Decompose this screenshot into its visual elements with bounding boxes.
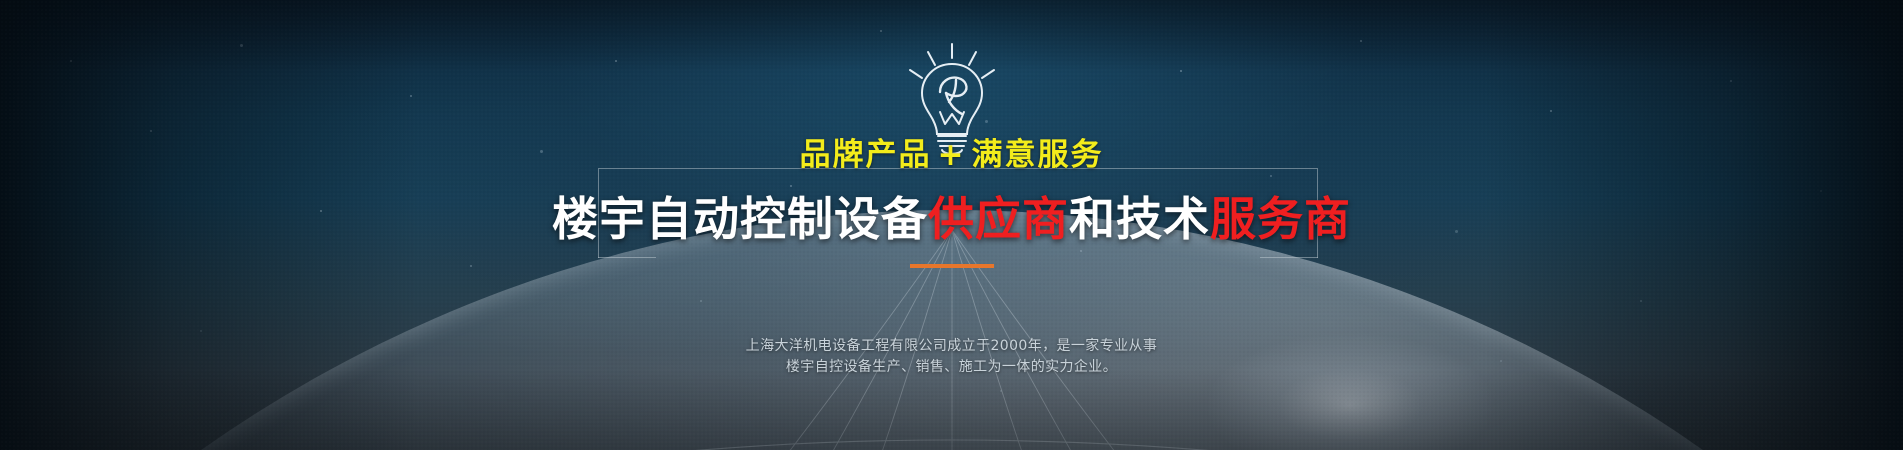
headline-part-1: 楼宇自动控制设备 xyxy=(552,192,928,246)
headline-highlight-service-provider: 服务商 xyxy=(1210,192,1351,246)
headline-highlight-supplier: 供应商 xyxy=(928,192,1069,246)
page-title: 楼宇自动控制设备供应商和技术服务商 xyxy=(0,192,1903,246)
company-description: 上海大洋机电设备工程有限公司成立于2000年，是一家专业从事 楼宇自控设备生产、… xyxy=(0,336,1903,378)
tagline: 品牌产品+满意服务 xyxy=(0,140,1903,171)
tagline-right: 满意服务 xyxy=(971,137,1103,173)
decorative-frame-right-foot xyxy=(1260,257,1318,258)
decorative-frame-left-foot xyxy=(598,257,656,258)
orange-divider xyxy=(910,264,994,268)
description-line-2: 楼宇自控设备生产、销售、施工为一体的实力企业。 xyxy=(0,357,1903,378)
tagline-plus: + xyxy=(932,137,972,173)
tagline-left: 品牌产品 xyxy=(800,137,932,173)
description-line-1: 上海大洋机电设备工程有限公司成立于2000年，是一家专业从事 xyxy=(0,336,1903,357)
hero-banner: 品牌产品+满意服务 楼宇自动控制设备供应商和技术服务商 上海大洋机电设备工程有限… xyxy=(0,0,1903,450)
banner-content: 品牌产品+满意服务 楼宇自动控制设备供应商和技术服务商 上海大洋机电设备工程有限… xyxy=(0,0,1903,450)
headline-part-2: 和技术 xyxy=(1069,192,1210,246)
